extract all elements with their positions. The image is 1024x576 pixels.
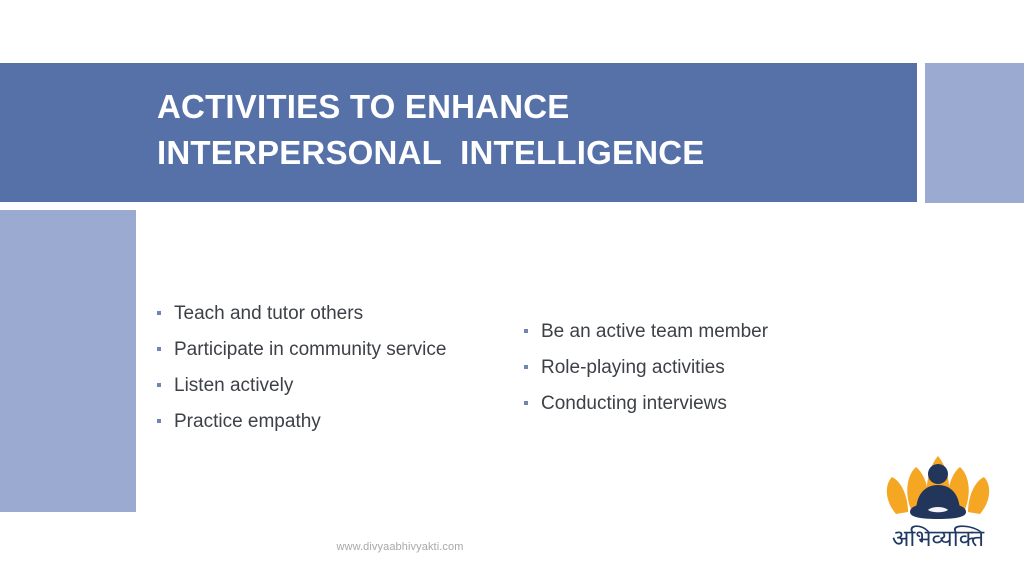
bullet-dot-icon [157, 311, 161, 315]
title-line-1: ACTIVITIES TO ENHANCE [157, 88, 569, 125]
list-item: Participate in community service [157, 332, 517, 368]
list-item-label: Conducting interviews [541, 393, 727, 414]
left-accent-block [0, 210, 136, 512]
list-item: Conducting interviews [524, 386, 894, 422]
bullet-dot-icon [524, 365, 528, 369]
list-item: Listen actively [157, 368, 517, 404]
header-accent-block [925, 63, 1024, 203]
lotus-meditation-icon [876, 448, 1000, 528]
slide-canvas: ACTIVITIES TO ENHANCEINTERPERSONAL INTEL… [0, 0, 1024, 576]
bullet-dot-icon [157, 383, 161, 387]
footer-website-url: www.divyaabhivyakti.com [250, 541, 550, 553]
brand-logo: अभिव्यक्ति [876, 448, 1000, 566]
bullet-dot-icon [157, 347, 161, 351]
list-item: Role-playing activities [524, 350, 894, 386]
page-title: ACTIVITIES TO ENHANCEINTERPERSONAL INTEL… [157, 84, 887, 176]
bullet-list-left: Teach and tutor others Participate in co… [157, 296, 517, 440]
list-item: Be an active team member [524, 314, 894, 350]
list-item-label: Practice empathy [174, 411, 321, 432]
list-item-label: Listen actively [174, 375, 293, 396]
bullet-list-right: Be an active team member Role-playing ac… [524, 314, 894, 422]
bullet-dot-icon [157, 419, 161, 423]
list-item: Teach and tutor others [157, 296, 517, 332]
list-item-label: Teach and tutor others [174, 303, 363, 324]
title-line-2: INTERPERSONAL INTELLIGENCE [157, 134, 705, 171]
bullet-dot-icon [524, 401, 528, 405]
list-item-label: Participate in community service [174, 339, 446, 360]
list-item-label: Role-playing activities [541, 357, 725, 378]
list-item-label: Be an active team member [541, 321, 768, 342]
bullet-dot-icon [524, 329, 528, 333]
list-item: Practice empathy [157, 404, 517, 440]
logo-wordmark: अभिव्यक्ति [876, 526, 1000, 552]
